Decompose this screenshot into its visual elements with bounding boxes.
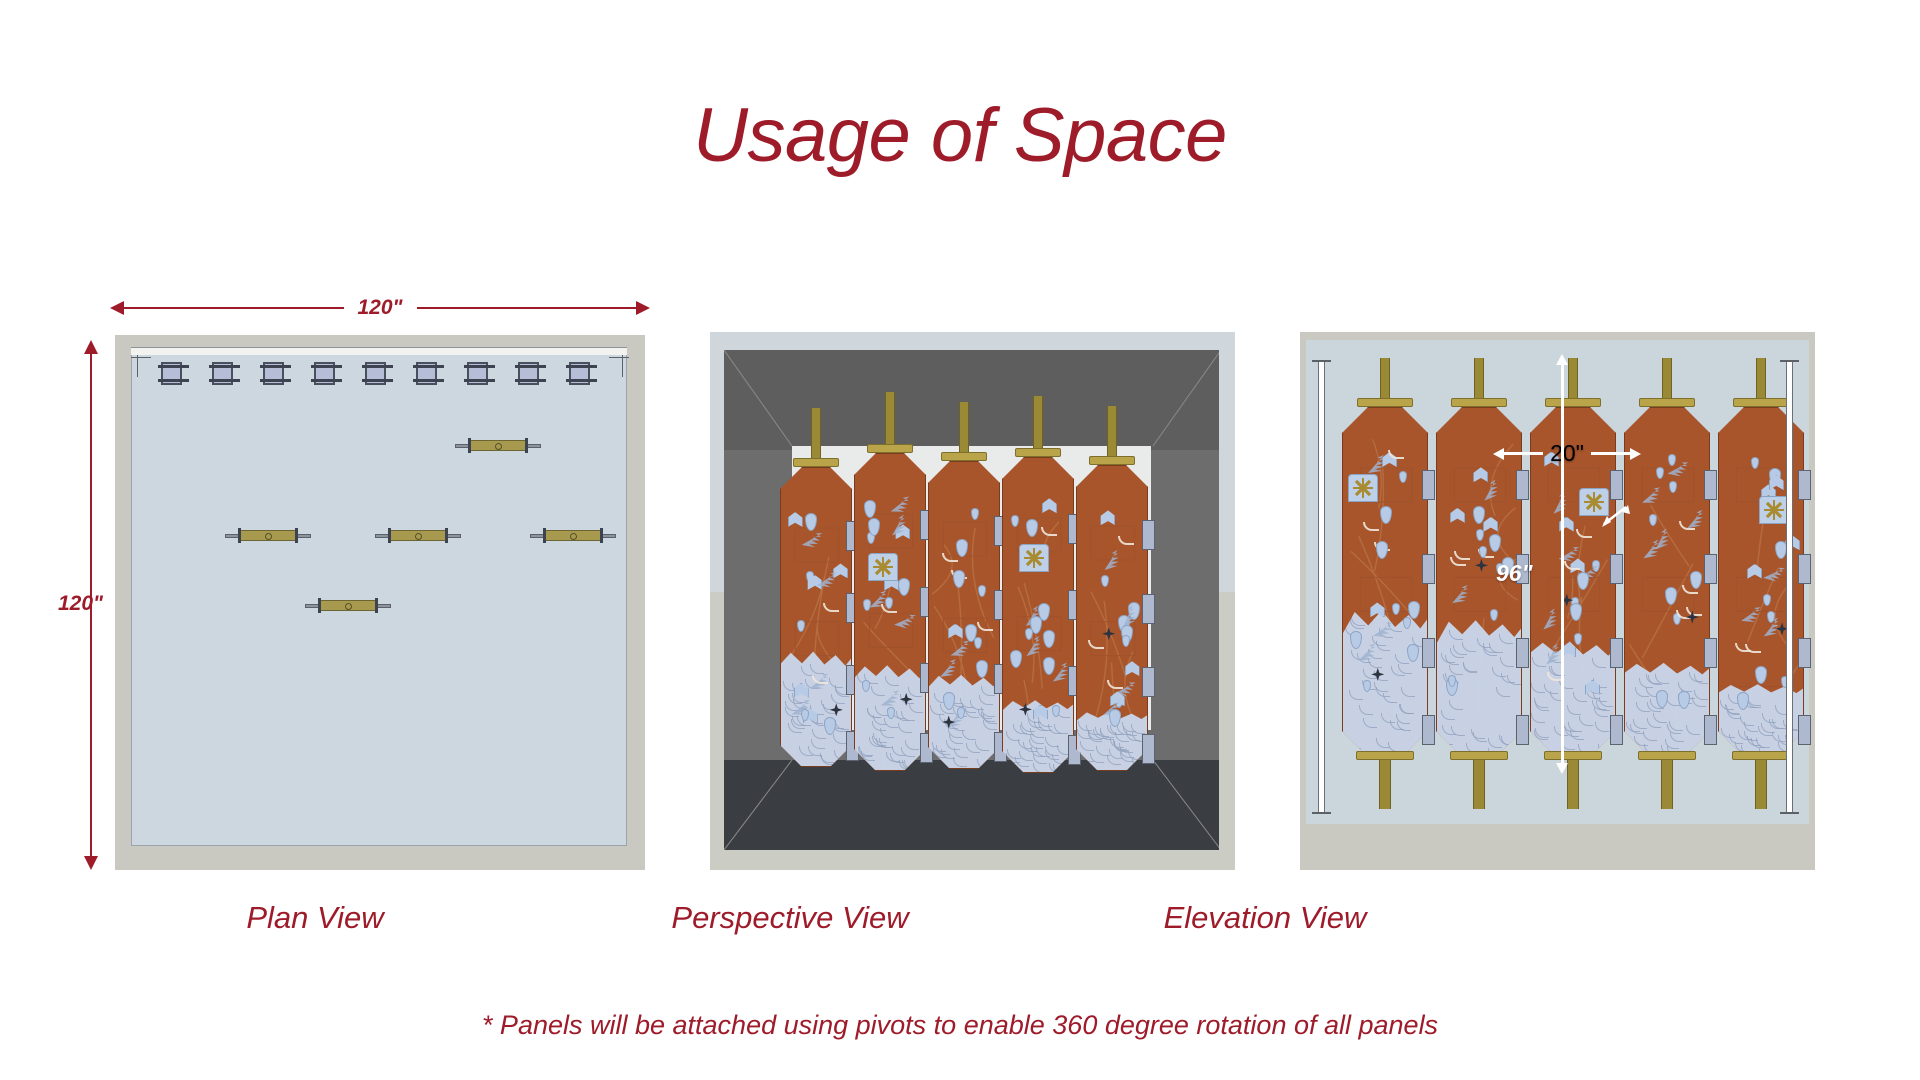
- panel-cap-plate: [1015, 448, 1061, 457]
- plan-panel-rail: [377, 604, 391, 608]
- water-droplet-icon: [1101, 575, 1109, 587]
- panel-pivot-hinge: [1422, 638, 1435, 668]
- plan-panel: [455, 440, 541, 451]
- wave-curl-icon: [1647, 718, 1661, 728]
- panel-water-motif: [1625, 660, 1709, 756]
- arrow-down-icon: [84, 856, 98, 870]
- panel-pivot-hinge: [1704, 554, 1717, 584]
- elevation-tick-mark: [1312, 360, 1331, 362]
- wave-curl-icon: [1080, 741, 1094, 751]
- plan-ceiling-hook: [212, 362, 233, 385]
- wave-curl-icon: [886, 752, 900, 762]
- arrow-left-icon: [1493, 448, 1504, 460]
- panel-cap-plate: [867, 444, 913, 453]
- wave-curl-icon: [1006, 731, 1020, 741]
- plan-ceiling-hook: [518, 362, 539, 385]
- panel-pivot-hinge: [1798, 715, 1811, 745]
- display-panel: [854, 392, 926, 774]
- panel-face: [854, 453, 926, 771]
- panel-floor-leg: [1755, 757, 1767, 809]
- wave-curl-icon: [1667, 724, 1681, 734]
- panel-pivot-hinge: [1704, 638, 1717, 668]
- wave-curl-icon: [1729, 734, 1743, 744]
- water-droplet-icon: [971, 508, 979, 520]
- plan-tick-mark: [131, 357, 151, 358]
- plan-width-label: 120": [344, 296, 417, 320]
- plan-panel-body: [239, 530, 297, 541]
- plan-panel: [225, 530, 311, 541]
- caption-perspective-view: Perspective View: [580, 900, 1000, 936]
- plan-ceiling-hook: [365, 362, 386, 385]
- wave-curl-icon: [1359, 705, 1373, 715]
- display-panel: [1076, 406, 1148, 774]
- rosette-icon: [1348, 474, 1378, 502]
- wave-curl-icon: [1080, 752, 1094, 762]
- panel-cap-plate: [1357, 398, 1412, 407]
- dimension-line: [1504, 452, 1543, 455]
- wave-curl-icon: [1441, 710, 1455, 720]
- plan-panel-pivot: [600, 528, 603, 543]
- plan-panel-body: [389, 530, 447, 541]
- plan-ceiling-hook: [314, 362, 335, 385]
- panel-face: [780, 467, 852, 767]
- panel-hanging-post: [1474, 358, 1484, 398]
- dimension-line: [124, 307, 344, 310]
- slide-canvas: Usage of Space 120" 120": [0, 0, 1920, 1080]
- wave-curl-icon: [867, 708, 881, 718]
- wave-curl-icon: [1531, 683, 1545, 693]
- panel-cap-plate: [1089, 456, 1135, 465]
- arrow-up-icon: [84, 340, 98, 354]
- wave-curl-icon: [1078, 758, 1092, 768]
- elevation-tick-mark: [1780, 360, 1799, 362]
- plan-panel-rail: [602, 534, 616, 538]
- plan-ceiling-hook: [416, 362, 437, 385]
- panel-cap-plate: [793, 458, 839, 467]
- page-title: Usage of Space: [0, 92, 1920, 179]
- wave-curl-icon: [977, 759, 991, 769]
- wave-curl-icon: [1376, 738, 1390, 748]
- plan-tick-mark: [622, 355, 623, 377]
- perspective-view-diagram: [710, 332, 1235, 870]
- rotation-arrow-icon: [1600, 502, 1634, 532]
- panel-hanging-post: [1107, 406, 1117, 456]
- arrow-right-icon: [1630, 448, 1641, 460]
- water-droplet-icon: [953, 570, 965, 588]
- panel-pivot-hinge: [1610, 554, 1623, 584]
- elevation-tick-mark: [1312, 812, 1331, 814]
- tendril-icon: [1576, 529, 1592, 538]
- water-droplet-icon: [1122, 635, 1130, 647]
- wave-curl-icon: [1477, 638, 1491, 648]
- panel-pivot-hinge: [1798, 554, 1811, 584]
- plan-panel-pivot: [543, 528, 546, 543]
- panel-pivot-hinge: [1142, 594, 1155, 624]
- wave-curl-icon: [885, 676, 899, 686]
- plan-panel: [530, 530, 616, 541]
- wave-curl-icon: [1445, 655, 1459, 665]
- panel-cap-plate: [1545, 398, 1600, 407]
- rosette-icon: [1019, 544, 1049, 572]
- panel-pivot-hinge: [1142, 667, 1155, 697]
- caption-elevation-view: Elevation View: [1055, 900, 1475, 936]
- panel-pivot-hinge: [1516, 638, 1529, 668]
- wave-curl-icon: [1048, 724, 1062, 734]
- wave-curl-icon: [1007, 762, 1021, 772]
- elevation-tick-mark: [1780, 812, 1799, 814]
- panel-pivot-hinge: [1422, 554, 1435, 584]
- plan-panel-rail: [527, 444, 541, 448]
- panel-pivot-hinge: [1422, 715, 1435, 745]
- display-panel: [1530, 358, 1616, 760]
- wave-curl-icon: [1500, 657, 1514, 667]
- wave-curl-icon: [1634, 736, 1648, 746]
- panel-floor-leg: [1567, 757, 1579, 809]
- plan-ceiling-track: [131, 347, 627, 355]
- panel-height-label: 96": [1496, 560, 1533, 587]
- wave-curl-icon: [1363, 718, 1377, 728]
- plan-panel-rail: [305, 604, 319, 608]
- plan-panel: [305, 600, 391, 611]
- arrow-down-icon: [1556, 763, 1568, 774]
- display-panel: [928, 402, 1000, 772]
- wave-curl-icon: [1592, 658, 1606, 668]
- wave-curl-icon: [1049, 763, 1063, 773]
- panel-water-motif: [929, 672, 999, 768]
- panel-hanging-post: [1756, 358, 1766, 398]
- plan-panel-body: [544, 530, 602, 541]
- wave-curl-icon: [871, 686, 885, 696]
- wave-curl-icon: [1390, 720, 1404, 730]
- panel-face: [1076, 465, 1148, 771]
- panel-height-dimension: [1556, 354, 1568, 774]
- panel-base-plate: [1638, 751, 1696, 760]
- wave-curl-icon: [1492, 667, 1506, 677]
- wave-curl-icon: [962, 730, 976, 740]
- panel-cap-plate: [1639, 398, 1694, 407]
- wave-curl-icon: [1772, 732, 1786, 742]
- panel-water-motif: [1531, 638, 1615, 756]
- wave-curl-icon: [1473, 732, 1487, 742]
- wave-curl-icon: [1636, 702, 1650, 712]
- panel-base-plate: [1732, 751, 1790, 760]
- wave-curl-icon: [1033, 763, 1047, 773]
- plan-panel-rail: [225, 534, 239, 538]
- perspective-room-box: [724, 350, 1219, 850]
- dimension-line: [417, 307, 637, 310]
- plan-panel-pivot: [238, 528, 241, 543]
- plan-panel-pivot: [375, 598, 378, 613]
- wave-curl-icon: [799, 746, 813, 756]
- plan-panel-pivot: [295, 528, 298, 543]
- plan-panel-pivot: [445, 528, 448, 543]
- water-droplet-icon: [1570, 603, 1582, 621]
- wave-curl-icon: [1349, 690, 1363, 700]
- plan-ceiling-hook: [569, 362, 590, 385]
- wave-curl-icon: [1532, 657, 1546, 667]
- plan-panel-rail: [375, 534, 389, 538]
- display-panel: [1342, 358, 1428, 760]
- wave-curl-icon: [1401, 687, 1415, 697]
- wave-curl-icon: [929, 760, 943, 769]
- plan-panel-body: [319, 600, 377, 611]
- panel-face: [928, 461, 1000, 769]
- wave-curl-icon: [1573, 692, 1587, 702]
- wave-curl-icon: [884, 718, 898, 728]
- panel-floor-leg: [1379, 757, 1391, 809]
- water-droplet-icon: [863, 599, 871, 611]
- plan-room-floor: [131, 351, 627, 846]
- rosette-icon: [868, 553, 898, 581]
- panel-pivot-hinge: [1610, 470, 1623, 500]
- wave-curl-icon: [953, 757, 967, 767]
- wave-curl-icon: [1374, 671, 1388, 681]
- panel-pivot-hinge: [1798, 470, 1811, 500]
- plan-panel-pivot: [525, 438, 528, 453]
- panel-hanging-post: [885, 392, 895, 444]
- panel-hanging-post: [1380, 358, 1390, 398]
- arrow-up-icon: [1556, 354, 1568, 365]
- panel-base-plate: [1544, 751, 1602, 760]
- panel-hanging-post: [1662, 358, 1672, 398]
- panel-hanging-post: [811, 408, 821, 458]
- display-panel: [1002, 396, 1074, 776]
- wave-curl-icon: [833, 734, 847, 744]
- elevation-scale-rod: [1318, 360, 1325, 812]
- wave-curl-icon: [1635, 687, 1649, 697]
- plan-tick-mark: [137, 355, 138, 377]
- plan-panel-rail: [455, 444, 469, 448]
- wave-curl-icon: [930, 705, 944, 715]
- plan-panel-rail: [530, 534, 544, 538]
- footnote-text: * Panels will be attached using pivots t…: [0, 1010, 1920, 1041]
- wave-curl-icon: [1507, 675, 1521, 685]
- plan-panel: [375, 530, 461, 541]
- panel-pivot-hinge: [1142, 734, 1155, 764]
- display-panel: [1436, 358, 1522, 760]
- water-droplet-icon: [1408, 601, 1420, 619]
- display-panel: [780, 408, 852, 770]
- panel-pivot-hinge: [1142, 520, 1155, 550]
- panel-pivot-hinge: [1704, 715, 1717, 745]
- arrow-left-icon: [110, 301, 124, 315]
- wave-curl-icon: [898, 723, 912, 733]
- elevation-floor: [1306, 824, 1809, 860]
- plan-width-dimension: 120": [110, 295, 650, 321]
- panel-face: [1002, 457, 1074, 773]
- panel-hanging-post: [1568, 358, 1578, 398]
- panel-cap-plate: [1733, 398, 1788, 407]
- wave-curl-icon: [1686, 725, 1700, 735]
- panel-pivot-hinge: [1798, 638, 1811, 668]
- panel-pivot-hinge: [1516, 715, 1529, 745]
- wave-curl-icon: [1347, 739, 1361, 749]
- panel-pivot-hinge: [1610, 638, 1623, 668]
- panel-hanging-post: [1033, 396, 1043, 448]
- plan-ceiling-hook: [467, 362, 488, 385]
- plan-tick-mark: [609, 357, 629, 358]
- wave-curl-icon: [1449, 700, 1463, 710]
- caption-plan-view: Plan View: [105, 900, 525, 936]
- elevation-scale-rod: [1786, 360, 1793, 812]
- plan-ceiling-hook: [161, 362, 182, 385]
- panel-floor-leg: [1473, 757, 1485, 809]
- dimension-line: [1561, 365, 1564, 763]
- plan-depth-label: 120": [58, 592, 103, 616]
- rosette-icon: [1759, 496, 1789, 524]
- wave-curl-icon: [861, 751, 875, 761]
- plan-panel-rail: [297, 534, 311, 538]
- wave-curl-icon: [1531, 713, 1545, 723]
- wave-curl-icon: [1463, 662, 1477, 672]
- panel-pivot-hinge: [1610, 715, 1623, 745]
- panel-pivot-hinge: [1422, 470, 1435, 500]
- wave-curl-icon: [1395, 654, 1409, 664]
- wave-curl-icon: [1018, 739, 1032, 749]
- wave-curl-icon: [1439, 735, 1453, 745]
- plan-panel-rail: [447, 534, 461, 538]
- tendril-icon: [942, 553, 958, 562]
- plan-panel-pivot: [388, 528, 391, 543]
- elevation-view-diagram: 20" 96": [1300, 332, 1815, 870]
- plan-panel-pivot: [318, 598, 321, 613]
- plan-panel-body: [469, 440, 527, 451]
- wave-curl-icon: [1639, 678, 1653, 688]
- panel-base-plate: [1356, 751, 1414, 760]
- panel-cap-plate: [1451, 398, 1506, 407]
- panel-hanging-post: [959, 402, 969, 452]
- panel-cap-plate: [941, 452, 987, 461]
- wave-curl-icon: [1758, 726, 1772, 736]
- plan-panel-pivot: [468, 438, 471, 453]
- arrow-right-icon: [636, 301, 650, 315]
- panel-water-motif: [781, 648, 851, 766]
- wave-curl-icon: [1567, 705, 1581, 715]
- wave-curl-icon: [1727, 709, 1741, 719]
- wave-curl-icon: [1595, 722, 1609, 732]
- panel-base-plate: [1450, 751, 1508, 760]
- wave-curl-icon: [1694, 674, 1708, 684]
- dimension-line: [1591, 452, 1630, 455]
- wave-curl-icon: [821, 755, 835, 765]
- panel-floor-leg: [1661, 757, 1673, 809]
- panel-pivot-hinge: [1516, 470, 1529, 500]
- plan-ceiling-hook: [263, 362, 284, 385]
- plan-view-diagram: [115, 335, 645, 870]
- panel-pivot-hinge: [1704, 470, 1717, 500]
- panel-face: [1342, 407, 1428, 757]
- display-panel: [1624, 358, 1710, 760]
- wave-curl-icon: [1496, 687, 1510, 697]
